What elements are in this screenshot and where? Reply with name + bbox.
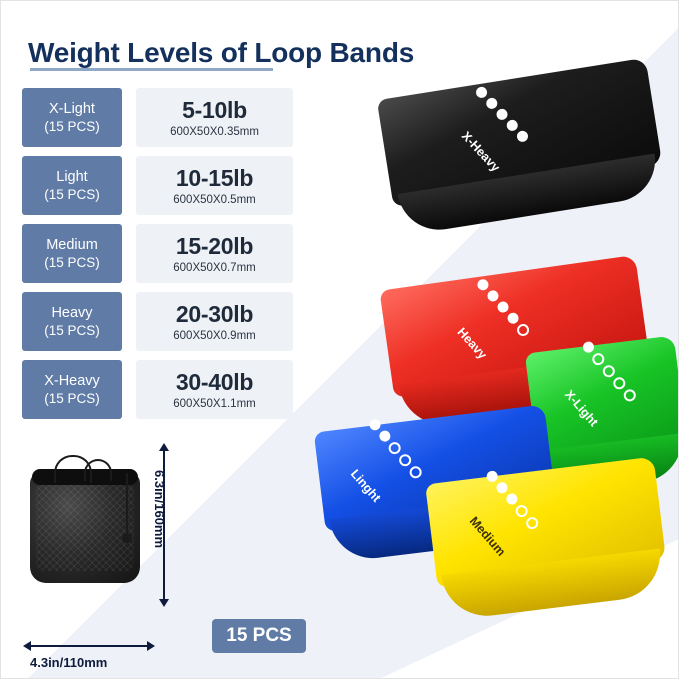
level-cell: X-Light (15 PCS): [22, 88, 122, 147]
height-dimension-label: 6.3in/160mm: [152, 470, 167, 548]
weight-range: 10-15lb: [176, 165, 253, 192]
level-count: (15 PCS): [44, 322, 100, 339]
band-x-heavy: X-Heavy: [377, 58, 671, 264]
spec-cell: 5-10lb 600X50X0.35mm: [136, 88, 293, 147]
pouch: [30, 455, 140, 583]
level-count: (15 PCS): [44, 118, 100, 135]
drawstring-tail: [126, 473, 128, 535]
weight-range: 30-40lb: [176, 369, 253, 396]
page-title: Weight Levels of Loop Bands: [28, 37, 414, 69]
level-name: Heavy: [51, 305, 92, 322]
level-cell: Light (15 PCS): [22, 156, 122, 215]
dimensions: 600X50X0.5mm: [173, 194, 255, 206]
width-dimension-label: 4.3in/110mm: [30, 655, 107, 670]
pcs-badge: 15 PCS: [212, 619, 306, 653]
dimensions: 600X50X0.9mm: [173, 330, 255, 342]
level-cell: X-Heavy (15 PCS): [22, 360, 122, 419]
level-name: Medium: [46, 237, 98, 254]
level-name: X-Light: [49, 101, 95, 118]
level-cell: Heavy (15 PCS): [22, 292, 122, 351]
dimensions: 600X50X0.35mm: [170, 126, 259, 138]
spec-cell: 30-40lb 600X50X1.1mm: [136, 360, 293, 419]
table-row: Medium (15 PCS) 15-20lb 600X50X0.7mm: [22, 224, 293, 283]
weight-levels-table: X-Light (15 PCS) 5-10lb 600X50X0.35mm Li…: [22, 88, 293, 428]
spec-cell: 10-15lb 600X50X0.5mm: [136, 156, 293, 215]
weight-range: 5-10lb: [182, 97, 247, 124]
level-count: (15 PCS): [44, 254, 100, 271]
table-row: X-Heavy (15 PCS) 30-40lb 600X50X1.1mm: [22, 360, 293, 419]
weight-range: 15-20lb: [176, 233, 253, 260]
band-medium: Medium: [425, 457, 673, 644]
level-count: (15 PCS): [44, 186, 100, 203]
table-row: Light (15 PCS) 10-15lb 600X50X0.5mm: [22, 156, 293, 215]
carry-pouch-illustration: [30, 455, 140, 583]
width-dimension-arrow: [30, 645, 148, 647]
level-name: Light: [56, 169, 87, 186]
dimensions: 600X50X0.7mm: [173, 262, 255, 274]
drawstring-cord-right: [84, 459, 112, 481]
title-divider: [30, 68, 273, 71]
level-cell: Medium (15 PCS): [22, 224, 122, 283]
table-row: X-Light (15 PCS) 5-10lb 600X50X0.35mm: [22, 88, 293, 147]
level-count: (15 PCS): [44, 390, 100, 407]
spec-cell: 20-30lb 600X50X0.9mm: [136, 292, 293, 351]
weight-range: 20-30lb: [176, 301, 253, 328]
drawstring-knot: [122, 533, 132, 543]
pouch-mesh-texture: [36, 483, 134, 571]
table-row: Heavy (15 PCS) 20-30lb 600X50X0.9mm: [22, 292, 293, 351]
level-name: X-Heavy: [44, 373, 100, 390]
spec-cell: 15-20lb 600X50X0.7mm: [136, 224, 293, 283]
dimensions: 600X50X1.1mm: [173, 398, 255, 410]
